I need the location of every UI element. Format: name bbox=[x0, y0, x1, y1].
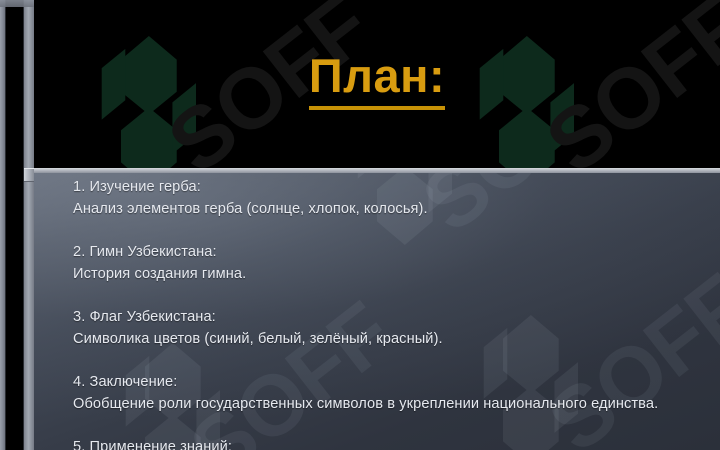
body-line-spacer bbox=[73, 286, 720, 308]
gutter-dark-band bbox=[5, 0, 24, 450]
body-line-spacer bbox=[73, 220, 720, 242]
slide-title-placeholder[interactable]: План: bbox=[34, 52, 720, 110]
slide-body-placeholder[interactable]: 1. Изучение герба:Анализ элементов герба… bbox=[73, 177, 720, 450]
slide-title-text: План: bbox=[309, 52, 445, 110]
scrollbar-cap-top bbox=[0, 0, 34, 7]
slide-title-area: SOFF SOFF План: bbox=[34, 0, 720, 168]
title-body-divider bbox=[34, 168, 720, 173]
body-line-spacer bbox=[73, 416, 720, 438]
scrollbar-thumb[interactable] bbox=[24, 168, 34, 182]
body-line: История создания гимна. bbox=[73, 264, 720, 286]
body-line: Анализ элементов герба (солнце, хлопок, … bbox=[73, 199, 720, 221]
body-line: 2. Гимн Узбекистана: bbox=[73, 242, 720, 264]
slide-body-area: SOFF SOFF SOFF 1. Изучение герба:Анализ … bbox=[34, 173, 720, 450]
body-line: Обобщение роли государственных символов … bbox=[73, 394, 720, 416]
slide-canvas[interactable]: SOFF SOFF План: bbox=[34, 0, 720, 450]
scrollbar-track-inner[interactable] bbox=[24, 0, 34, 450]
left-gutter bbox=[0, 0, 34, 450]
slide-viewer: SOFF SOFF План: bbox=[0, 0, 720, 450]
body-line: Символика цветов (синий, белый, зелёный,… bbox=[73, 329, 720, 351]
body-line-spacer bbox=[73, 351, 720, 373]
body-line: 3. Флаг Узбекистана: bbox=[73, 307, 720, 329]
body-line: 5. Применение знаний: bbox=[73, 437, 720, 450]
body-line: 1. Изучение герба: bbox=[73, 177, 720, 199]
body-line: 4. Заключение: bbox=[73, 372, 720, 394]
